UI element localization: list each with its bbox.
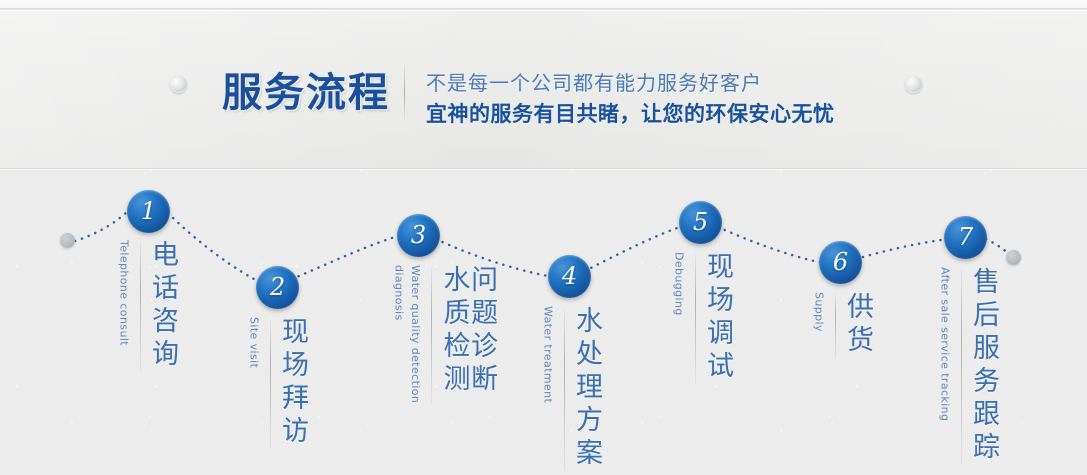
step-node-2[interactable]: 2 [256, 266, 299, 309]
step-en-4-0: Water treatment [539, 306, 556, 403]
step-node-6[interactable]: 6 [819, 241, 862, 284]
label-divider-7 [961, 269, 962, 465]
step-en-2-0: Site visit [245, 317, 262, 368]
step-zh-6-0: 供货 [844, 292, 872, 358]
step-zh-3-0: 问题诊断 [468, 265, 496, 397]
label-divider-3 [431, 267, 432, 403]
step-en-6-0: Supply [810, 292, 827, 332]
step-zh-1-0: 电话咨询 [149, 240, 177, 372]
screw-icon-right [905, 76, 922, 93]
banner-subtitle-line2: 宜神的服务有目共睹，让您的环保安心无忧 [426, 98, 835, 128]
step-en-1-0: Telephone consult [115, 240, 132, 346]
start-dot [60, 233, 75, 248]
step-label-4: 水处理方案 Water treatment [539, 306, 600, 471]
step-number-1: 1 [141, 199, 156, 223]
step-number-4: 4 [562, 264, 577, 288]
service-process-page: 服务流程 不是每一个公司都有能力服务好客户 宜神的服务有目共睹，让您的环保安心无… [0, 0, 1087, 475]
label-divider-5 [695, 254, 696, 384]
title-divider [404, 62, 405, 122]
step-en-3-0: Water quality detection [407, 265, 424, 403]
header-banner: 服务流程 不是每一个公司都有能力服务好客户 宜神的服务有目共睹，让您的环保安心无… [0, 9, 1087, 169]
label-divider-2 [270, 319, 271, 449]
step-number-3: 3 [411, 223, 426, 247]
step-en-5-0: Debugging [670, 252, 687, 316]
step-node-7[interactable]: 7 [944, 216, 987, 259]
step-zh-4-0: 水处理方案 [573, 306, 601, 471]
end-dot [1006, 250, 1021, 265]
step-zh-3-1: 水质检测 [440, 265, 468, 397]
step-node-5[interactable]: 5 [679, 201, 722, 244]
banner-subtitle-line1: 不是每一个公司都有能力服务好客户 [426, 67, 762, 96]
step-label-2: 现场拜访 Site visit [245, 317, 306, 449]
step-number-2: 2 [270, 275, 285, 299]
step-node-1[interactable]: 1 [127, 190, 170, 233]
step-number-6: 6 [833, 250, 848, 274]
top-bar [0, 0, 1087, 9]
step-zh-7-0: 售后服务跟踪 [970, 267, 998, 465]
page-title: 服务流程 [222, 60, 390, 118]
step-node-3[interactable]: 3 [397, 214, 440, 257]
step-label-5: 现场调试 Debugging [670, 252, 731, 384]
label-divider-1 [140, 242, 141, 372]
step-node-4[interactable]: 4 [548, 255, 591, 298]
label-divider-4 [564, 308, 565, 471]
step-zh-5-0: 现场调试 [704, 252, 732, 384]
step-label-1: 电话咨询 Telephone consult [115, 240, 176, 372]
step-en-7-0: After sale service tracking [936, 267, 953, 421]
step-number-7: 7 [958, 225, 973, 249]
screw-icon-left [170, 76, 187, 93]
process-flow: 1 电话咨询 Telephone consult 2 现场拜访 Site vis… [0, 167, 1087, 475]
step-en-3-1: diagnosis [390, 265, 407, 403]
step-label-7: 售后服务跟踪 After sale service tracking [936, 267, 997, 465]
step-label-3: 问题诊断 水质检测 Water quality detection diagno… [390, 265, 495, 403]
step-zh-2-0: 现场拜访 [279, 317, 307, 449]
step-label-6: 供货 Supply [810, 292, 871, 358]
label-divider-6 [835, 294, 836, 358]
step-number-5: 5 [693, 210, 708, 234]
